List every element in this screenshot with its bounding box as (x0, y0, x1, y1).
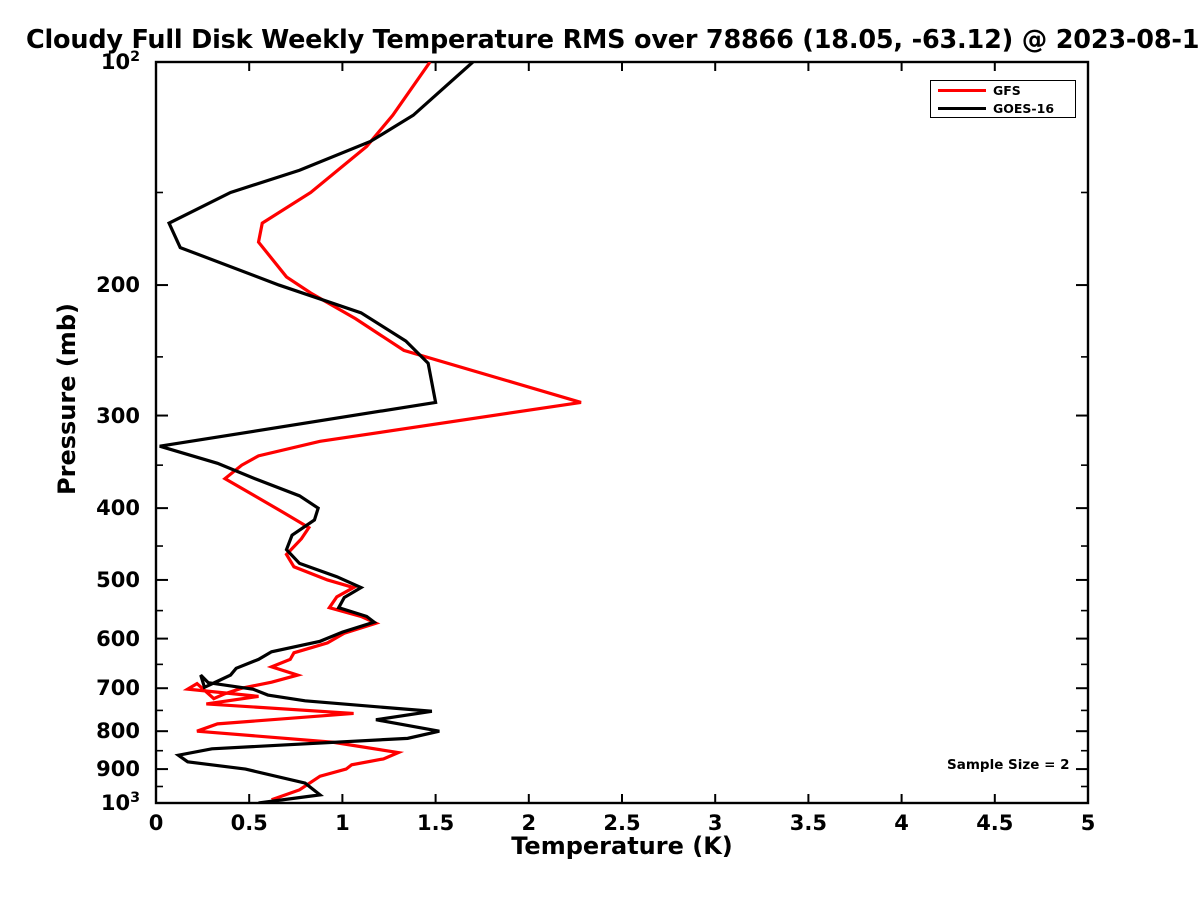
sample-size-annotation: Sample Size = 2 (947, 757, 1070, 773)
legend: GFS GOES-16 (930, 80, 1076, 118)
legend-swatch-goes16 (938, 107, 986, 110)
figure-canvas: Cloudy Full Disk Weekly Temperature RMS … (0, 0, 1200, 900)
legend-item-goes16: GOES-16 (931, 99, 1075, 118)
legend-label-goes16: GOES-16 (993, 101, 1054, 116)
data-series-group (160, 62, 581, 803)
legend-item-gfs: GFS (931, 81, 1075, 100)
legend-label-gfs: GFS (993, 83, 1021, 98)
legend-swatch-gfs (938, 89, 986, 92)
